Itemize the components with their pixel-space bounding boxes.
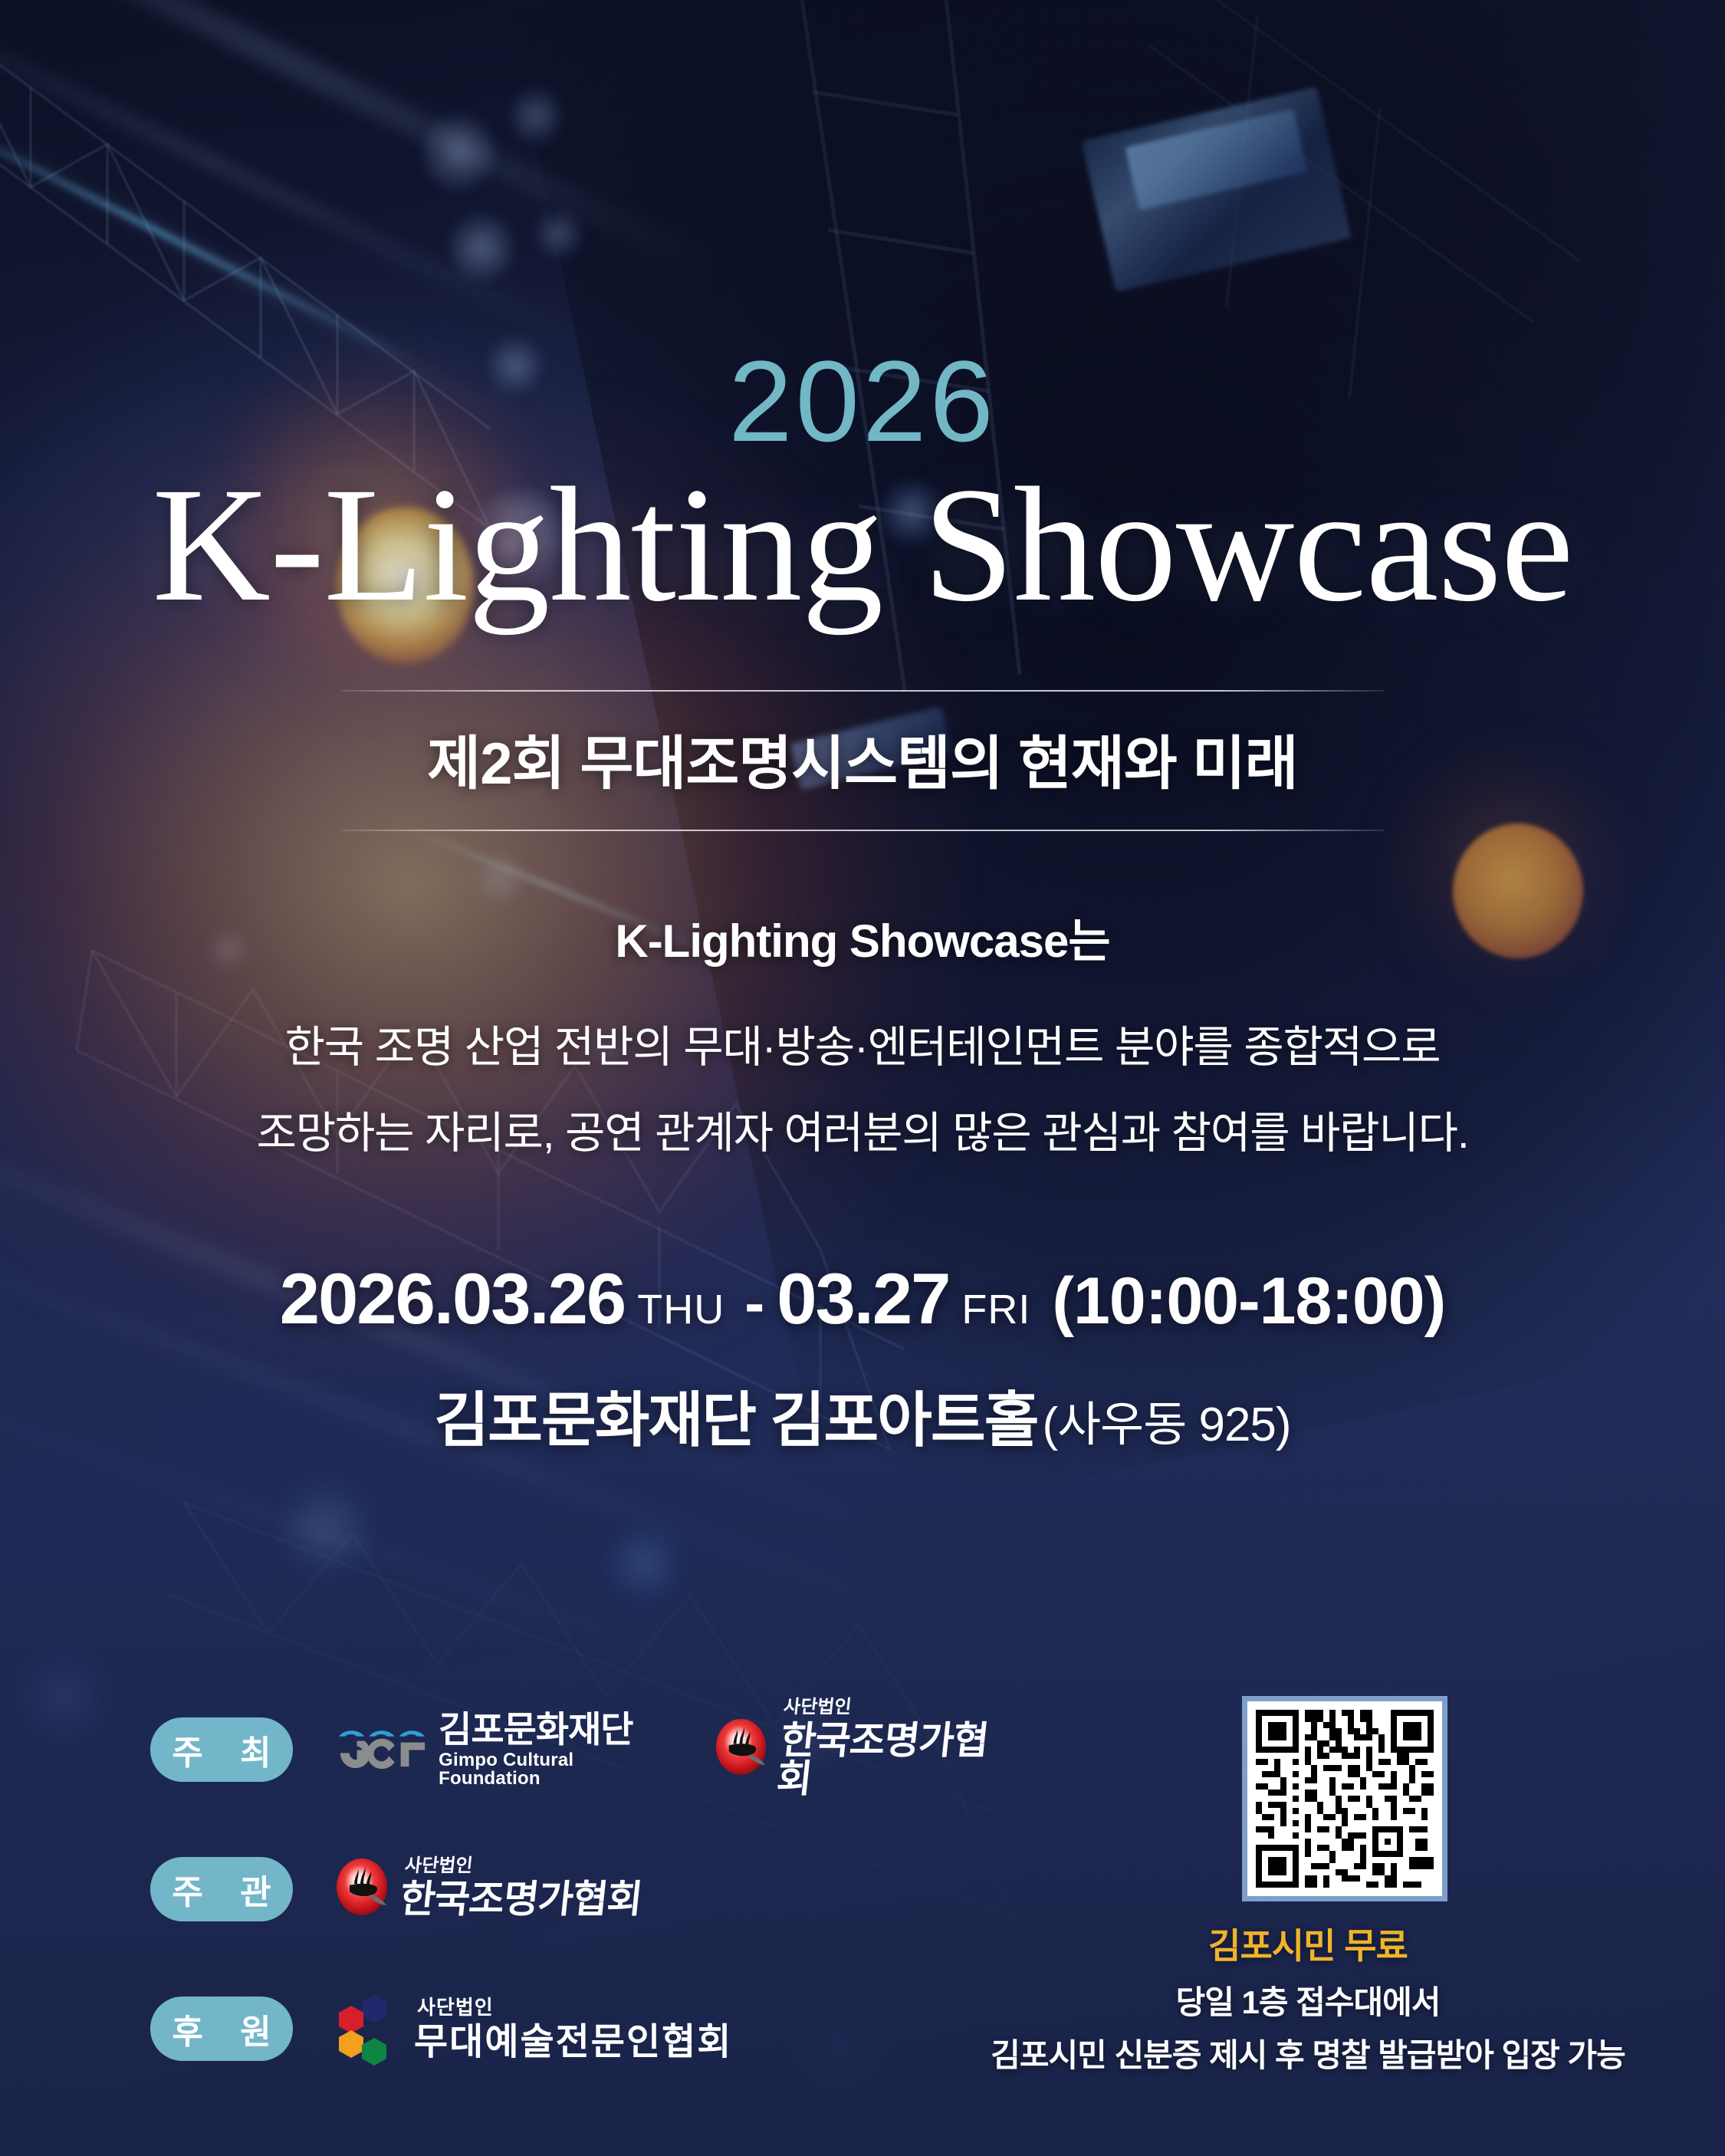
credit-row-organizer: 주 관 <box>150 1851 1017 1928</box>
intro-body-line-2: 조망하는 자리로, 공연 관계자 여러분의 많은 관심과 참여를 바랍니다. <box>0 1090 1725 1176</box>
gcf-logo-icon <box>334 1723 428 1776</box>
venue-name: 김포문화재단 김포아트홀 <box>434 1386 1037 1454</box>
credit-logos-sponsor: 사단법인 무대예술전문인협회 <box>334 1990 732 2067</box>
poster-root: 2026 K-Lighting Showcase 제2회 무대조명시스템의 현재… <box>0 0 1725 2156</box>
credit-badge-organizer: 주 관 <box>150 1857 293 1921</box>
poster-content: 2026 K-Lighting Showcase 제2회 무대조명시스템의 현재… <box>0 0 1725 2156</box>
event-subtitle: 제2회 무대조명시스템의 현재와 미래 <box>0 707 1725 822</box>
stapa-name: 무대예술전문인협회 <box>414 2024 732 2061</box>
gcf-name-en: Gimpo Cultural Foundation <box>439 1751 677 1788</box>
qr-code-icon[interactable] <box>1242 1696 1447 1901</box>
intro-body: 한국 조명 산업 전반의 무대·방송·엔터테인먼트 분야를 종합적으로 조망하는… <box>0 1004 1725 1176</box>
event-title: K-Lighting Showcase <box>0 458 1725 633</box>
admission-free-label: 김포시민 무료 <box>971 1918 1645 1969</box>
gcf-logo-text: 김포문화재단 Gimpo Cultural Foundation <box>439 1711 677 1788</box>
credit-row-host: 주 최 <box>150 1711 1017 1788</box>
klda-prefix: 사단법인 <box>404 1857 643 1875</box>
schedule-start-date: 2026.03.26 <box>280 1258 625 1339</box>
admission-section: 김포시민 무료 당일 1층 접수대에서 김포시민 신분증 제시 후 명찰 발급받… <box>971 1696 1645 2076</box>
stapa-logo: 사단법인 무대예술전문인협회 <box>334 1990 732 2067</box>
event-year: 2026 <box>0 343 1725 458</box>
intro-body-line-1: 한국 조명 산업 전반의 무대·방송·엔터테인먼트 분야를 종합적으로 <box>0 1004 1725 1090</box>
event-schedule: 2026.03.26THU-03.27FRI(10:00-18:00) <box>0 1257 1725 1340</box>
klda-logo-text: 사단법인 한국조명가협회 <box>400 1857 642 1921</box>
admission-note-2: 김포시민 신분증 제시 후 명찰 발급받아 입장 가능 <box>971 2029 1645 2076</box>
credit-row-sponsor: 후 원 사단법인 무대예술전문 <box>150 1990 1017 2067</box>
schedule-start-day: THU <box>637 1287 724 1333</box>
stapa-prefix: 사단법인 <box>417 1997 732 2017</box>
klda-lamp-icon <box>714 1717 771 1783</box>
credit-badge-sponsor: 후 원 <box>150 1997 293 2061</box>
stapa-hexagon-icon <box>334 1990 402 2067</box>
stapa-logo-text: 사단법인 무대예술전문인협회 <box>414 1997 732 2061</box>
schedule-time: (10:00-18:00) <box>1052 1264 1445 1338</box>
venue-address: (사우동 925) <box>1042 1398 1290 1451</box>
credit-badge-host: 주 최 <box>150 1717 293 1782</box>
subtitle-rule-bottom <box>341 830 1384 831</box>
event-venue: 김포문화재단 김포아트홀(사우동 925) <box>0 1372 1725 1458</box>
klda-name: 한국조명가협회 <box>398 1880 643 1918</box>
subtitle-rule-top <box>341 690 1384 692</box>
schedule-dash: - <box>744 1269 764 1336</box>
intro-lead: K-Lighting Showcase는 <box>0 919 1725 965</box>
klda-lamp-icon <box>334 1856 393 1922</box>
klda-logo: 사단법인 한국조명가협회 <box>334 1856 642 1922</box>
credit-logos-host: 김포문화재단 Gimpo Cultural Foundation <box>334 1698 1017 1801</box>
gcf-logo: 김포문화재단 Gimpo Cultural Foundation <box>334 1711 677 1788</box>
credit-logos-organizer: 사단법인 한국조명가협회 <box>334 1856 642 1922</box>
admission-note-1: 당일 1층 접수대에서 <box>971 1977 1645 2023</box>
gcf-name-kr: 김포문화재단 <box>439 1711 677 1747</box>
schedule-end-date: 03.27 <box>777 1258 949 1339</box>
credits-section: 주 최 <box>150 1711 1017 2130</box>
schedule-end-day: FRI <box>961 1287 1030 1333</box>
